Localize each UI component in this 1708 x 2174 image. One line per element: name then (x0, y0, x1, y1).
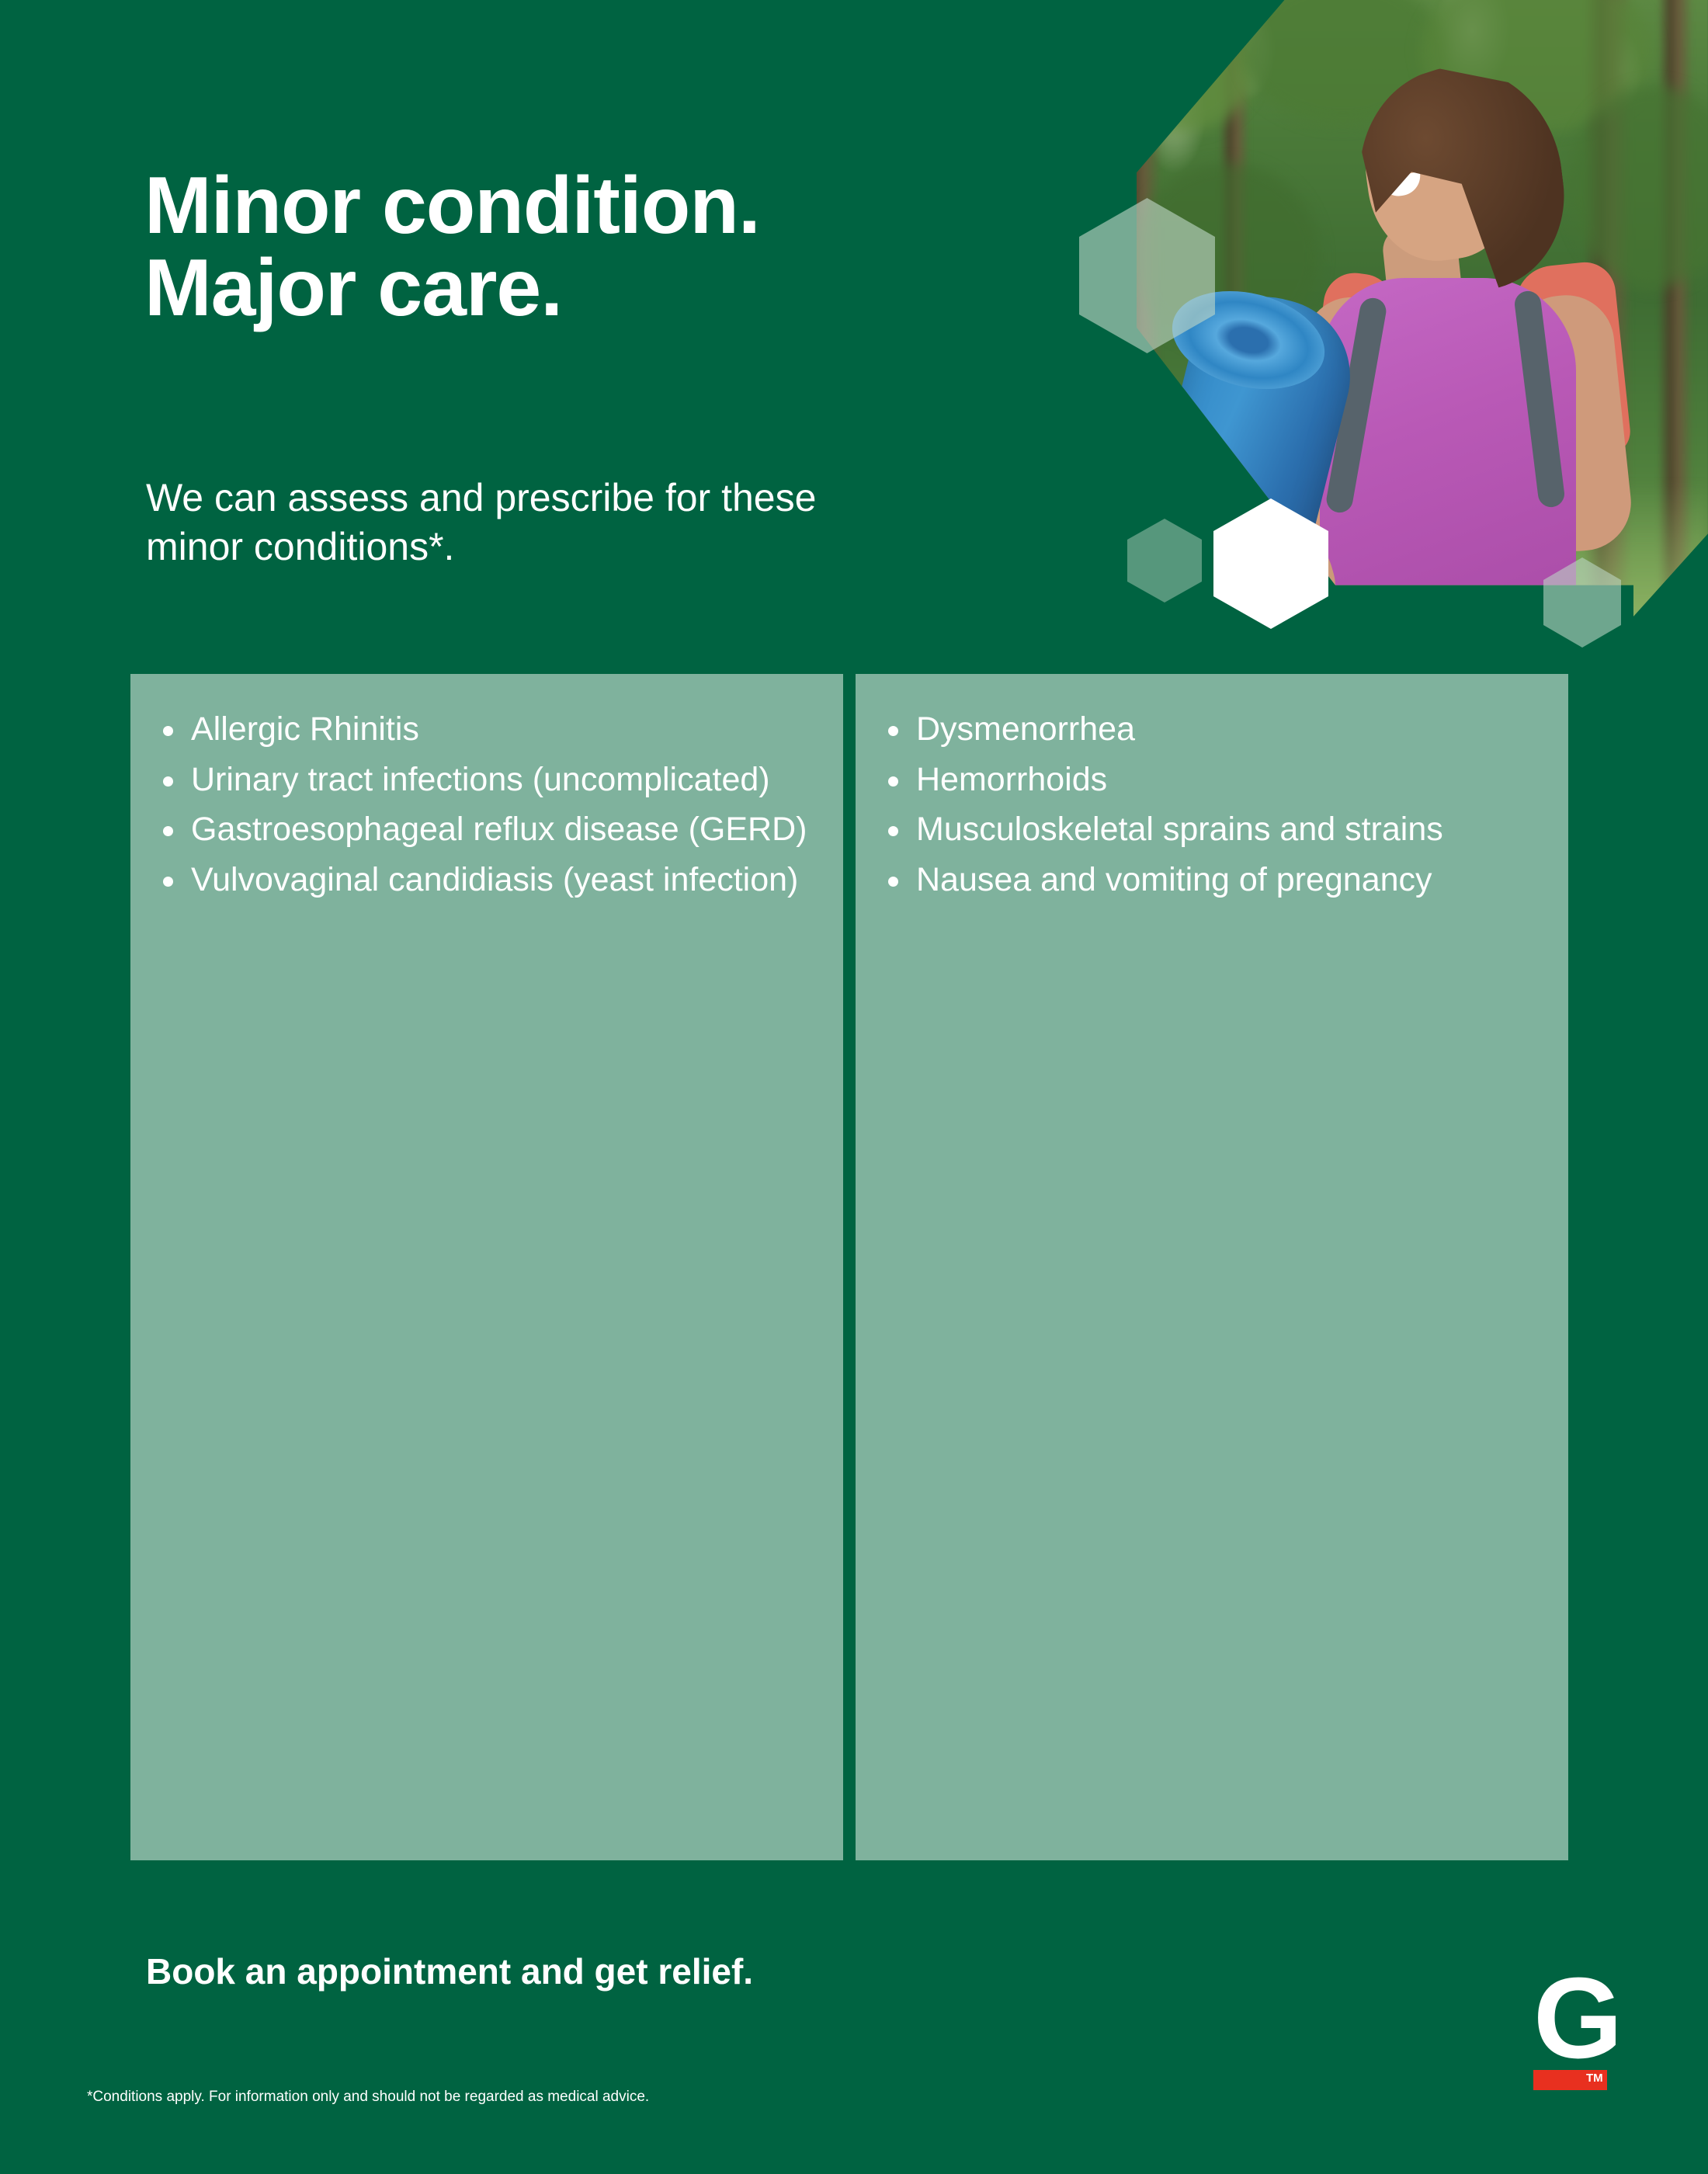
poster-canvas: Minor condition. Major care. We can asse… (0, 0, 1708, 2174)
list-item: Allergic Rhinitis (157, 710, 817, 749)
list-item-label: Nausea and vomiting of pregnancy (916, 861, 1432, 898)
disclaimer-text: *Conditions apply. For information only … (87, 2089, 649, 2106)
headline-line-2: Major care. (144, 247, 760, 329)
list-item-label: Dysmenorrhea (916, 710, 1135, 748)
list-item-label: Musculoskeletal sprains and strains (916, 811, 1443, 848)
conditions-list-left: Allergic Rhinitis Urinary tract infectio… (157, 710, 817, 900)
hair (1347, 55, 1574, 304)
logo-letter-g: G (1533, 1961, 1621, 2076)
subheading-line-2: minor conditions*. (146, 523, 1062, 571)
logo-trademark: TM (1586, 2072, 1603, 2084)
bullet-icon (888, 776, 898, 787)
list-item: Nausea and vomiting of pregnancy (882, 860, 1542, 900)
list-item: Vulvovaginal candidiasis (yeast infectio… (157, 860, 817, 900)
bullet-icon (888, 826, 898, 836)
bullet-icon (888, 726, 898, 736)
conditions-panels: Allergic Rhinitis Urinary tract infectio… (130, 674, 1568, 1860)
list-item: Hemorrhoids (882, 760, 1542, 800)
call-to-action-text: Book an appointment and get relief. (146, 1950, 753, 1992)
list-item: Urinary tract infections (uncomplicated) (157, 760, 817, 800)
list-item: Gastroesophageal reflux disease (GERD) (157, 810, 817, 849)
subheading-line-1: We can assess and prescribe for these (146, 474, 1062, 523)
list-item-label: Urinary tract infections (uncomplicated) (191, 761, 770, 798)
conditions-panel-right: Dysmenorrhea Hemorrhoids Musculoskeletal… (856, 674, 1568, 1860)
list-item-label: Gastroesophageal reflux disease (GERD) (191, 811, 807, 848)
page-title: Minor condition. Major care. (144, 165, 760, 329)
list-item-label: Hemorrhoids (916, 761, 1107, 798)
list-item: Musculoskeletal sprains and strains (882, 810, 1542, 849)
conditions-list-right: Dysmenorrhea Hemorrhoids Musculoskeletal… (882, 710, 1542, 900)
conditions-panel-left: Allergic Rhinitis Urinary tract infectio… (130, 674, 843, 1860)
subheading: We can assess and prescribe for these mi… (146, 474, 1062, 571)
bullet-icon (888, 877, 898, 887)
bullet-icon (163, 826, 173, 836)
list-item-label: Vulvovaginal candidiasis (yeast infectio… (191, 861, 798, 898)
bullet-icon (163, 726, 173, 736)
headline-line-1: Minor condition. (144, 165, 760, 247)
bullet-icon (163, 776, 173, 787)
brand-logo: G TM (1533, 1969, 1654, 2093)
bullet-icon (163, 877, 173, 887)
list-item-label: Allergic Rhinitis (191, 710, 419, 748)
list-item: Dysmenorrhea (882, 710, 1542, 749)
